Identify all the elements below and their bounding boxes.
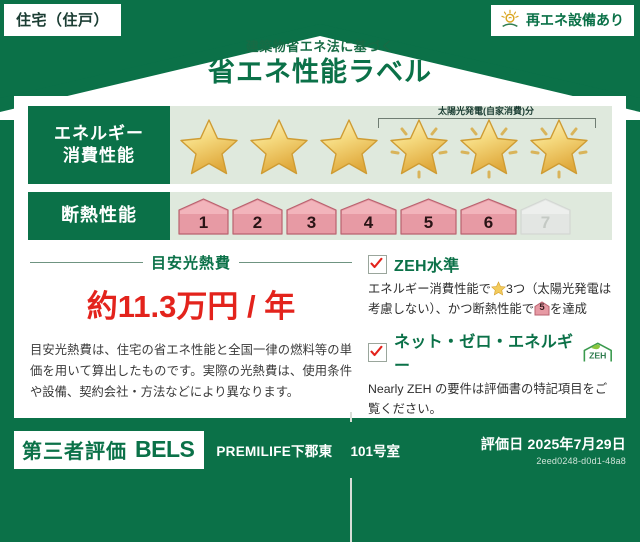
bels-logo-box: 第三者評価 BELS [14, 431, 204, 469]
star-icon [174, 115, 244, 181]
insulation-level-value: 1 [178, 213, 229, 233]
evaluation-date: 評価日 2025年7月29日 [481, 434, 626, 454]
zeh-body-post: を達成 [550, 302, 587, 316]
sun-icon [499, 9, 521, 31]
bels-jp-label: 第三者評価 [22, 435, 127, 464]
utility-cost-heading-text: 目安光熱費 [151, 252, 231, 273]
insulation-level-2: 2 [232, 198, 283, 235]
insulation-level-5: 5 [400, 198, 457, 235]
insulation-level-scale: 1234567 [178, 198, 571, 235]
net-zero-header: ネット・ゼロ・エネルギー ZEH [368, 328, 614, 376]
evaluation-info: 評価日 2025年7月29日 2eed0248-d0d1-48a8 [481, 434, 626, 466]
star-2 [244, 115, 314, 181]
insulation-level-value: 2 [232, 213, 283, 233]
zeh-standard-header: ZEH水準 [368, 252, 614, 276]
solar-annotation-bracket [378, 118, 596, 128]
lower-section: 目安光熱費 約11.3万円 / 年 目安光熱費は、住宅の省エネ性能と全国一律の燃… [14, 252, 626, 429]
net-zero-checkbox[interactable] [368, 343, 387, 362]
title-main: 省エネ性能ラベル [0, 56, 640, 90]
building-name: PREMILIFE下郡東 [216, 440, 332, 460]
zeh-column: ZEH水準 エネルギー消費性能で3つ（太陽光発電は考慮しない）、かつ断熱性能で5… [352, 252, 614, 429]
evaluation-id: 2eed0248-d0d1-48a8 [481, 456, 626, 466]
bels-en-label: BELS [135, 436, 194, 463]
star-icon [244, 115, 314, 181]
energy-label-line2: 消費性能 [63, 145, 135, 167]
insulation-level-value: 6 [460, 213, 517, 233]
room-number: 101号室 [350, 440, 400, 460]
zeh-logo-text: ZEH [590, 351, 607, 361]
title-subtitle: 建築物省エネ法に基づく [0, 40, 640, 54]
check-icon [370, 257, 383, 270]
zeh-house-logo-icon: ZEH [582, 340, 614, 364]
insulation-performance-value: 1234567 [170, 192, 612, 240]
renewable-badge-label: 再エネ設備あり [526, 10, 624, 30]
heading-rule-right [239, 262, 352, 264]
zeh-standard-title: ZEH水準 [394, 252, 460, 276]
energy-performance-label: エネルギー 消費性能 [28, 106, 170, 184]
star-1 [174, 115, 244, 181]
inline-star-icon [491, 281, 506, 296]
insulation-level-6: 6 [460, 198, 517, 235]
title-block: 建築物省エネ法に基づく 省エネ性能ラベル [0, 40, 640, 90]
utility-cost-amount: 約11.3万円 / 年 [30, 281, 352, 326]
energy-performance-value: 太陽光発電(自家消費)分 [170, 106, 612, 184]
utility-cost-note: 目安光熱費は、住宅の省エネ性能と全国一律の燃料等の単価を用いて算出したものです。… [30, 340, 352, 403]
inline-level-badge: 5 [534, 301, 550, 316]
renewable-equipment-badge: 再エネ設備あり [491, 5, 634, 36]
net-zero-energy-item: ネット・ゼロ・エネルギー ZEH Nearly ZEH の要件は評価書の特記項目… [368, 328, 614, 419]
energy-label-line1: エネルギー [54, 123, 144, 145]
insulation-level-value: 4 [340, 213, 397, 233]
building-type-badge: 住宅（住戸） [4, 4, 121, 36]
zeh-body-pre: エネルギー消費性能で [368, 282, 491, 296]
insulation-level-3: 3 [286, 198, 337, 235]
insulation-level-value: 3 [286, 213, 337, 233]
check-icon [370, 345, 383, 358]
insulation-level-value: 7 [520, 213, 571, 233]
net-zero-title: ネット・ゼロ・エネルギー [394, 328, 575, 376]
zeh-standard-item: ZEH水準 エネルギー消費性能で3つ（太陽光発電は考慮しない）、かつ断熱性能で5… [368, 252, 614, 319]
footer-bar: 第三者評価 BELS PREMILIFE下郡東 101号室 評価日 2025年7… [0, 422, 640, 478]
star-3 [314, 115, 384, 181]
insulation-level-7: 7 [520, 198, 571, 235]
energy-performance-row: エネルギー 消費性能 太陽光発電(自家消費)分 [28, 106, 612, 184]
utility-cost-column: 目安光熱費 約11.3万円 / 年 目安光熱費は、住宅の省エネ性能と全国一律の燃… [30, 252, 352, 429]
label-root: 住宅（住戸） 再エネ設備あり 建築物省エネ法に基づく 省エネ性能ラベル エネルギ… [0, 0, 640, 478]
main-card: エネルギー 消費性能 太陽光発電(自家消費)分 断熱性能 1234567 目安光 [14, 96, 626, 418]
insulation-level-4: 4 [340, 198, 397, 235]
inline-level-value: 5 [534, 300, 550, 315]
insulation-level-1: 1 [178, 198, 229, 235]
insulation-performance-row: 断熱性能 1234567 [28, 192, 612, 240]
utility-cost-heading: 目安光熱費 [30, 252, 352, 273]
heading-rule-left [30, 262, 143, 264]
net-zero-body: Nearly ZEH の要件は評価書の特記項目をご覧ください。 [368, 380, 614, 419]
zeh-standard-body: エネルギー消費性能で3つ（太陽光発電は考慮しない）、かつ断熱性能で5を達成 [368, 280, 614, 319]
star-icon [314, 115, 384, 181]
insulation-performance-label: 断熱性能 [28, 192, 170, 240]
solar-annotation-label: 太陽光発電(自家消費)分 [374, 104, 598, 117]
insulation-level-value: 5 [400, 213, 457, 233]
zeh-standard-checkbox[interactable] [368, 255, 387, 274]
